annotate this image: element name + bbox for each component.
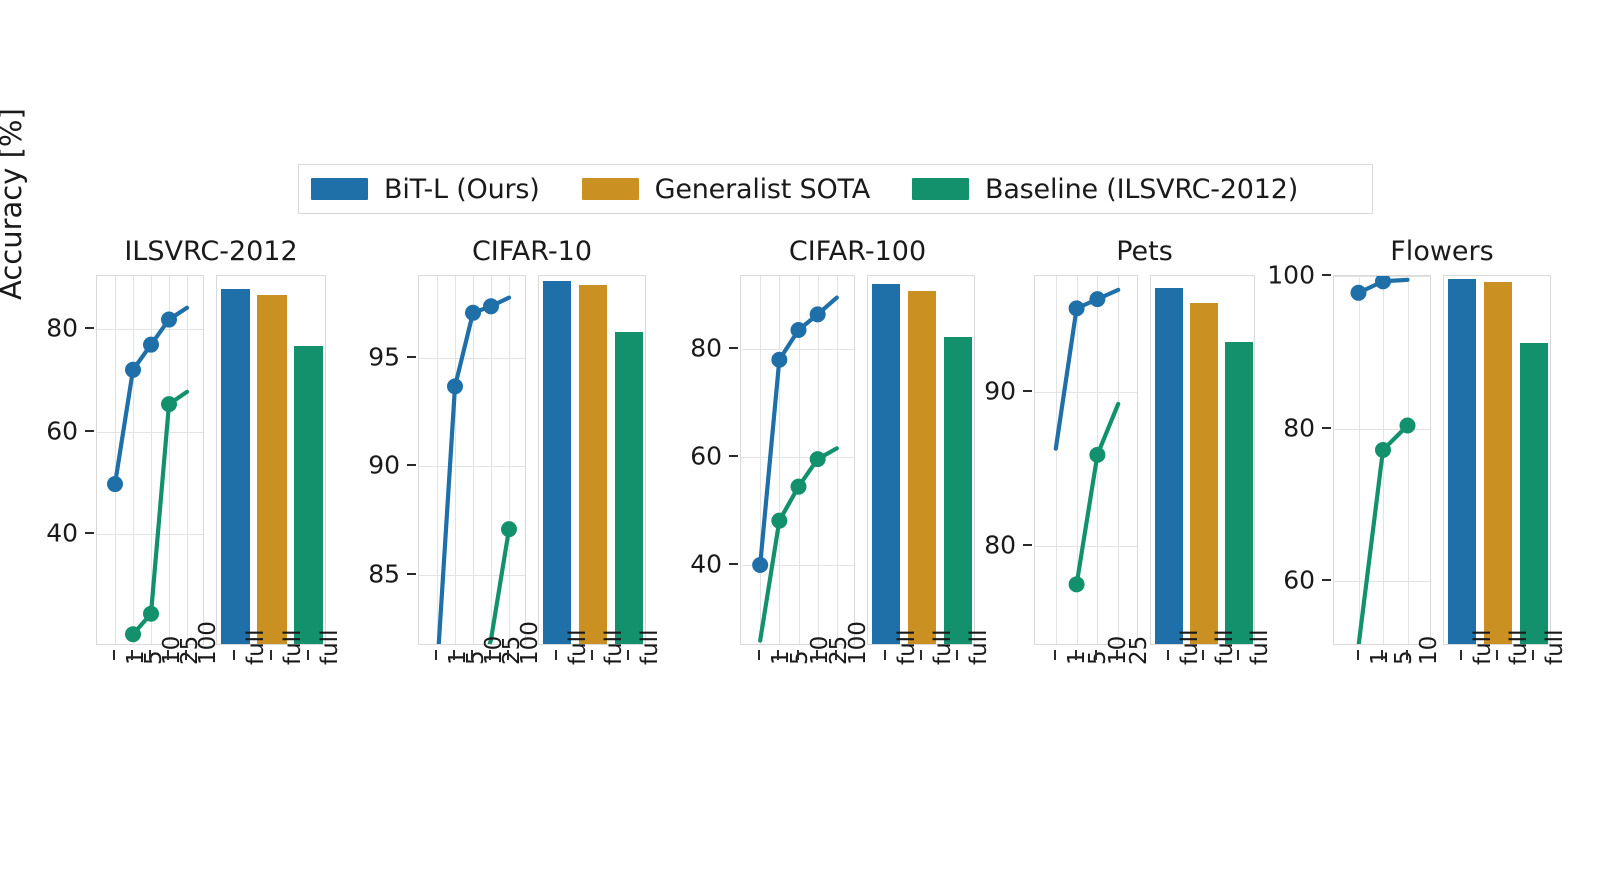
bar [1225,342,1253,644]
y-tick-label: 90 [984,376,1016,405]
x-tick-mark [1167,650,1169,660]
data-point-marker [1090,292,1105,307]
legend-entry-bit-l: BiT-L (Ours) [311,174,540,205]
x-tick-mark [884,650,886,660]
x-tick-mark [489,650,491,660]
x-tick-label: full [930,630,956,665]
legend-label-generalist-sota: Generalist SOTA [655,174,870,205]
data-point-marker [772,352,787,367]
legend-label-bit-l: BiT-L (Ours) [384,174,540,205]
series-line [1077,404,1119,584]
chart-panel-pets: Pets8090151025fullfullfull [1034,236,1255,696]
bar-axes [538,275,646,645]
y-tick-mark [1322,274,1331,276]
x-tick-label: 100 [845,621,871,665]
x-tick-label: full [1542,630,1568,665]
panel-title: Flowers [1333,236,1551,267]
y-tick-mark [1023,544,1032,546]
data-point-marker [1400,418,1415,433]
x-tick-label: full [243,630,269,665]
x-tick-mark [591,650,593,660]
bar [872,284,901,644]
axes-wrapper [96,275,326,645]
series-line [1359,426,1408,645]
series-line [115,308,187,484]
data-point-marker [1376,442,1391,457]
x-tick-mark [555,650,557,660]
data-point-marker [126,627,141,642]
bar [1190,303,1218,644]
x-tick-mark [1116,650,1118,660]
bar [908,291,937,644]
y-tick-label: 60 [690,441,722,470]
y-tick-mark [1322,579,1331,581]
y-tick-label: 80 [46,314,78,343]
x-tick-label: full [1212,630,1238,665]
bar [1155,288,1183,644]
y-tick-mark [729,347,738,349]
y-tick-label: 60 [46,416,78,445]
chart-panel-ilsvrc-2012: ILSVRC-2012406080151025100fullfullfull [96,236,326,696]
y-tick-mark [407,356,416,358]
y-tick-mark [1322,427,1331,429]
x-tick-mark [1532,650,1534,660]
x-tick-mark [956,650,958,660]
y-tick-label: 80 [1283,413,1315,442]
x-tick-mark [167,650,169,660]
x-tick-mark [1406,650,1408,660]
axes-wrapper [1333,275,1551,645]
line-axes [1333,275,1431,645]
data-point-marker [466,305,481,320]
legend-label-baseline: Baseline (ILSVRC-2012) [985,174,1298,205]
line-axes [740,275,855,645]
x-tick-mark [835,650,837,660]
legend-swatch-green-icon [912,178,969,200]
series-layer [97,276,204,645]
legend-entry-generalist-sota: Generalist SOTA [582,174,870,205]
y-tick-mark [729,563,738,565]
data-point-marker [753,557,768,572]
y-tick-label: 80 [690,333,722,362]
x-tick-mark [1496,650,1498,660]
data-point-marker [162,397,177,412]
x-tick-label: full [317,630,343,665]
x-tick-mark [131,650,133,660]
y-tick-label: 80 [984,530,1016,559]
x-tick-mark [1381,650,1383,660]
bar [1484,282,1513,644]
line-axes [1034,275,1138,645]
series-layer [1334,276,1431,645]
panel-title: CIFAR-10 [418,236,646,267]
bar-axes [867,275,975,645]
bar [221,289,250,644]
axes-wrapper [418,275,646,645]
series-line [473,529,509,645]
x-tick-label: full [966,630,992,665]
data-point-marker [1351,285,1366,300]
y-tick-mark [729,455,738,457]
legend-swatch-blue-icon [311,178,368,200]
data-point-marker [448,379,463,394]
x-tick-mark [149,650,151,660]
axes-wrapper [740,275,975,645]
y-tick-mark [85,532,94,534]
data-point-marker [810,307,825,322]
x-tick-mark [1202,650,1204,660]
x-tick-label: full [280,630,306,665]
x-tick-label: 25 [1126,636,1152,665]
x-tick-mark [1357,650,1359,660]
data-point-marker [1090,447,1105,462]
bar [294,346,323,644]
y-tick-label: 100 [1267,261,1315,290]
x-tick-mark [1054,650,1056,660]
chart-panel-cifar-10: CIFAR-10859095151025100fullfullfull [418,236,646,696]
panel-title: CIFAR-100 [740,236,975,267]
data-point-marker [502,522,517,537]
bar [543,281,572,645]
x-tick-label: full [894,630,920,665]
x-tick-mark [453,650,455,660]
x-tick-label: 1 [1367,650,1393,665]
series-layer [741,276,855,645]
data-point-marker [108,477,123,492]
x-tick-label: full [1177,630,1203,665]
x-tick-label: full [601,630,627,665]
x-tick-mark [1460,650,1462,660]
y-tick-label: 40 [46,519,78,548]
panel-title: ILSVRC-2012 [96,236,326,267]
data-point-marker [144,337,159,352]
bar [944,337,973,644]
x-tick-mark [185,650,187,660]
y-axis-title: Accuracy [%] [0,108,28,300]
y-tick-mark [85,327,94,329]
x-tick-mark [1095,650,1097,660]
x-tick-label: 100 [517,621,543,665]
bar [257,295,286,645]
series-line [760,448,837,640]
y-tick-label: 60 [1283,566,1315,595]
x-tick-label: 100 [195,621,221,665]
x-tick-mark [1075,650,1077,660]
axes-wrapper [1034,275,1255,645]
x-tick-mark [1237,650,1239,660]
series-line [133,392,187,634]
line-axes [96,275,204,645]
y-tick-mark [407,464,416,466]
y-tick-mark [85,430,94,432]
chart-legend: BiT-L (Ours) Generalist SOTA Baseline (I… [298,164,1373,214]
chart-panel-flowers: Flowers60801001510fullfullfull [1333,236,1551,696]
data-point-marker [126,362,141,377]
x-tick-label: full [565,630,591,665]
x-tick-mark [307,650,309,660]
y-tick-mark [407,573,416,575]
line-axes [418,275,526,645]
data-point-marker [162,312,177,327]
bar [1448,279,1477,644]
bar-axes [1150,275,1255,645]
legend-swatch-orange-icon [582,178,639,200]
y-tick-label: 90 [368,451,400,480]
data-point-marker [791,323,806,338]
data-point-marker [1069,301,1084,316]
y-tick-mark [1023,390,1032,392]
x-tick-mark [435,650,437,660]
x-tick-label: full [1506,630,1532,665]
panel-title: Pets [1034,236,1255,267]
x-tick-label: full [1470,630,1496,665]
x-tick-mark [758,650,760,660]
x-tick-mark [627,650,629,660]
x-tick-mark [920,650,922,660]
x-tick-mark [777,650,779,660]
bar-axes [216,275,326,645]
data-point-marker [1376,275,1391,289]
bar [615,332,644,644]
x-tick-mark [816,650,818,660]
data-point-marker [144,606,159,621]
x-tick-label: full [1247,630,1273,665]
data-point-marker [772,513,787,528]
bar [579,285,608,644]
chart-panel-cifar-100: CIFAR-100406080151025100fullfullfull [740,236,975,696]
x-tick-label: 10 [1416,636,1442,665]
bar [1520,343,1549,644]
x-tick-label: full [637,630,663,665]
x-tick-label: 5 [1391,650,1417,665]
x-tick-mark [270,650,272,660]
x-tick-mark [507,650,509,660]
x-tick-mark [233,650,235,660]
y-tick-label: 95 [368,343,400,372]
data-point-marker [484,299,499,314]
data-point-marker [810,452,825,467]
series-layer [1035,276,1138,645]
data-point-marker [791,479,806,494]
bar-axes [1443,275,1551,645]
legend-entry-baseline: Baseline (ILSVRC-2012) [912,174,1298,205]
figure-root: BiT-L (Ours) Generalist SOTA Baseline (I… [0,0,1600,891]
x-tick-mark [471,650,473,660]
data-point-marker [1069,577,1084,592]
series-layer [419,276,526,645]
y-tick-label: 40 [690,549,722,578]
y-tick-label: 85 [368,559,400,588]
x-tick-mark [113,650,115,660]
x-tick-mark [797,650,799,660]
